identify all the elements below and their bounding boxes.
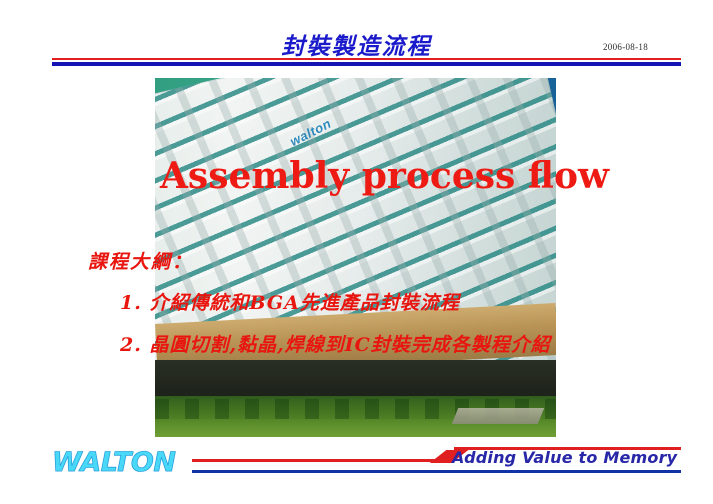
header-divider (52, 58, 681, 70)
photo-walkway (452, 408, 544, 424)
header-divider-blue-line (52, 62, 681, 66)
footer-red-line-left (192, 459, 442, 462)
slide-date: 2006-08-18 (603, 42, 648, 52)
outline-item: 1. 介紹傳統和BGA先進產品封裝流程 (120, 288, 460, 315)
footer-blue-line (192, 470, 681, 473)
walton-logo: WALTON (52, 447, 175, 478)
company-tagline: Adding Value to Memory (452, 448, 677, 467)
slide-canvas: 封裝製造流程 2006-08-18 walton Assembly proces… (0, 0, 713, 504)
main-heading: Assembly process flow (160, 158, 580, 194)
outline-item: 2. 晶圓切割,黏晶,焊線到IC封裝完成各製程介紹 (120, 330, 551, 357)
building-photo: walton (155, 78, 556, 437)
outline-label: 課程大綱： (88, 247, 193, 274)
